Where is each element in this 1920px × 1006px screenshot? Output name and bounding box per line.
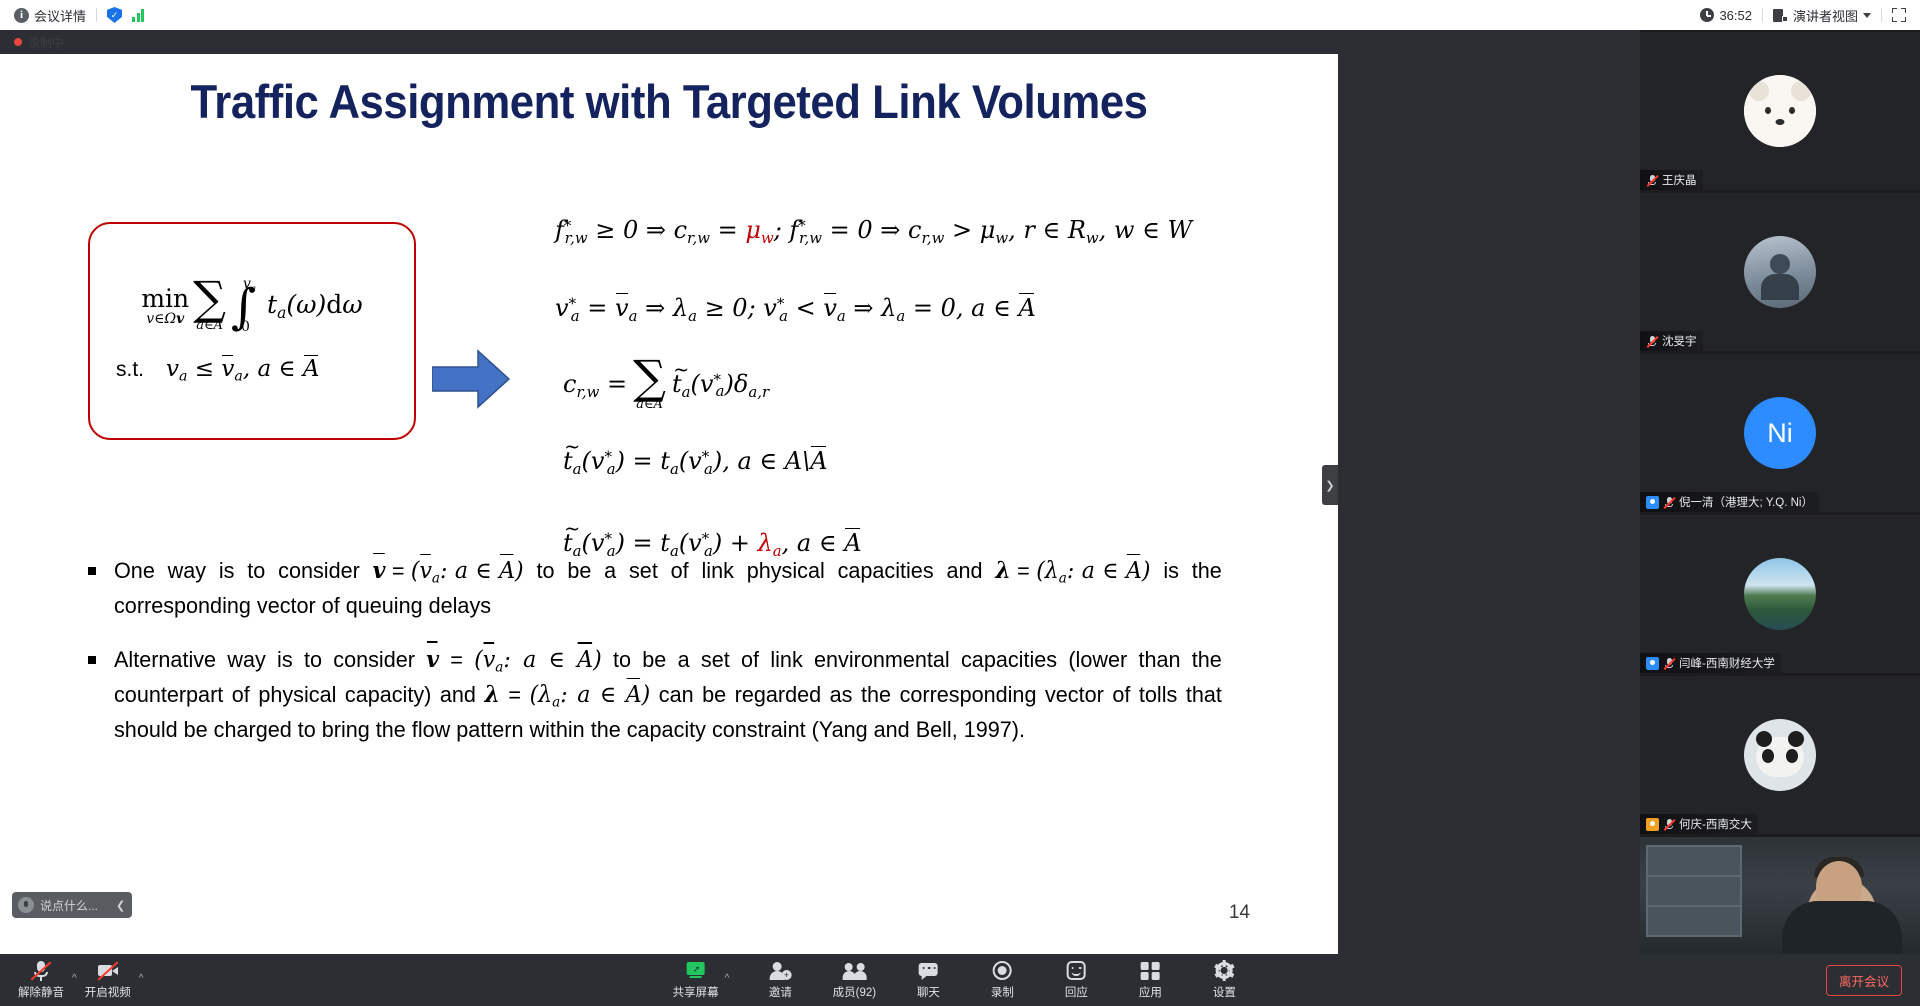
- bullet-physical-capacity: One way is to consider v = (va: a ∈ A) t…: [88, 554, 1268, 623]
- chevron-right-icon: ❯: [1325, 479, 1334, 492]
- participant-nameplate: 闫峰-西南财经大学: [1640, 653, 1781, 673]
- camera-options-chevron-icon[interactable]: ^: [139, 973, 144, 1000]
- chat-label: 聊天: [917, 984, 940, 1000]
- slide-page-number: 14: [1229, 902, 1250, 924]
- min-operator: min v∈Ωv: [141, 286, 189, 326]
- chat-icon: [917, 961, 939, 981]
- objective-function: min v∈Ωv ∑ a∈A va ∫ 0 ta(ω)dω: [104, 277, 400, 334]
- participant-sidebar: 王庆晶 沈旻宇 Ni 倪一清（港理大; Y.Q. Ni）: [1640, 30, 1920, 984]
- unmute-label: 解除静音: [18, 984, 64, 1000]
- chevron-down-icon: [1863, 13, 1871, 18]
- share-options-chevron-icon[interactable]: ^: [725, 973, 730, 1000]
- participant-name: 王庆晶: [1662, 172, 1697, 188]
- participant-name: 倪一清（港理大; Y.Q. Ni）: [1679, 494, 1813, 510]
- top-bar-left: i 会议详情: [14, 6, 144, 25]
- participant-name: 闫峰-西南财经大学: [1679, 655, 1775, 671]
- avatar-initials: Ni: [1767, 418, 1793, 449]
- bullet-environmental-capacity: Alternative way is to consider v = (va: …: [88, 643, 1268, 747]
- share-screen-label: 共享屏幕: [673, 984, 719, 1000]
- shield-check-icon[interactable]: [107, 7, 122, 23]
- person-photo-avatar: [1744, 236, 1816, 308]
- chevron-left-icon[interactable]: ❮: [109, 899, 132, 912]
- implication-arrow-icon: [432, 349, 510, 409]
- top-bar-right: 36:52 演讲者视图: [1700, 6, 1906, 25]
- chat-button[interactable]: 聊天: [905, 961, 951, 1000]
- clock-icon: [1700, 8, 1714, 22]
- sidebar-collapse-handle[interactable]: ❯: [1322, 465, 1338, 505]
- toolbar-center-items: ➚ 共享屏幕 ^ + 邀请 成员(92) 聊天 录制 回应: [673, 961, 1248, 1000]
- reactions-button[interactable]: 回应: [1053, 961, 1099, 1000]
- record-label: 录制: [991, 984, 1014, 1000]
- view-mode-label: 演讲者视图: [1793, 6, 1858, 25]
- settings-label: 设置: [1213, 984, 1236, 1000]
- recording-dot-icon: [14, 38, 22, 46]
- mic-muted-icon: [1663, 818, 1675, 831]
- self-video-tile[interactable]: [1640, 837, 1920, 959]
- info-icon: i: [14, 8, 29, 23]
- bullet-list: One way is to consider v = (va: a ∈ A) t…: [88, 554, 1268, 767]
- mic-muted-icon: [1646, 174, 1658, 187]
- lake-photo-avatar: [1744, 558, 1816, 630]
- start-video-label: 开启视频: [85, 984, 131, 1000]
- share-screen-icon: ➚: [685, 961, 707, 981]
- meeting-toolbar: 解除静音 ^ 开启视频 ^ ➚ 共享屏幕 ^ + 邀请 成员(92): [0, 954, 1920, 1006]
- view-mode-dropdown[interactable]: 演讲者视图: [1773, 6, 1871, 25]
- invite-icon: +: [769, 961, 791, 981]
- camera-off-icon: [97, 961, 119, 981]
- capacity-constraint: s.t. va ≤ va, a ∈ A: [104, 356, 400, 385]
- gear-icon: [1213, 961, 1235, 981]
- zoom-meeting-window: i 会议详情 36:52 演讲者视图 录制中 T: [0, 0, 1920, 1006]
- integrand: ta(ω)dω: [259, 290, 363, 322]
- bullet-text: Alternative way is to consider v = (va: …: [114, 643, 1222, 747]
- recording-label: 录制中: [28, 34, 64, 51]
- initials-avatar: Ni: [1744, 397, 1816, 469]
- participant-tile-1[interactable]: 王庆晶: [1640, 32, 1920, 190]
- meeting-details-button[interactable]: i 会议详情: [14, 6, 86, 25]
- participant-nameplate: 王庆晶: [1640, 170, 1703, 190]
- mic-muted-icon: [30, 961, 52, 981]
- meeting-details-label: 会议详情: [34, 6, 86, 25]
- invite-label: 邀请: [769, 984, 792, 1000]
- participant-tile-3[interactable]: Ni 倪一清（港理大; Y.Q. Ni）: [1640, 354, 1920, 512]
- self-camera-feed: [1640, 837, 1920, 959]
- optimization-problem-box: min v∈Ωv ∑ a∈A va ∫ 0 ta(ω)dω s.t. va ≤ …: [88, 222, 416, 440]
- participant-tile-5[interactable]: 何庆-西南交大: [1640, 676, 1920, 834]
- integral-operator: va ∫ 0: [231, 277, 256, 334]
- participant-nameplate: 何庆-西南交大: [1640, 814, 1758, 834]
- apps-label: 应用: [1139, 984, 1162, 1000]
- mic-options-chevron-icon[interactable]: ^: [72, 973, 77, 1000]
- reactions-label: 回应: [1065, 984, 1088, 1000]
- timer-value: 36:52: [1719, 8, 1752, 23]
- start-video-button[interactable]: 开启视频: [81, 961, 135, 1000]
- apps-icon: [1139, 961, 1161, 981]
- record-icon: [991, 961, 1013, 981]
- share-screen-button[interactable]: ➚ 共享屏幕: [673, 961, 719, 1000]
- unmute-button[interactable]: 解除静音: [14, 961, 68, 1000]
- mic-muted-icon: [1663, 657, 1675, 670]
- meeting-timer: 36:52: [1700, 8, 1752, 23]
- participant-nameplate: 倪一清（港理大; Y.Q. Ni）: [1640, 492, 1819, 512]
- record-button[interactable]: 录制: [979, 961, 1025, 1000]
- mic-muted-icon: [1663, 496, 1675, 509]
- shared-screen-slide[interactable]: Traffic Assignment with Targeted Link Vo…: [0, 54, 1338, 954]
- participant-tile-2[interactable]: 沈旻宇: [1640, 193, 1920, 351]
- fullscreen-icon[interactable]: [1892, 8, 1906, 22]
- divider: [1762, 8, 1763, 22]
- participant-name: 何庆-西南交大: [1679, 816, 1752, 832]
- members-icon: [843, 961, 865, 981]
- summation-operator: ∑ a∈A: [193, 280, 226, 332]
- host-badge-icon: [1646, 818, 1659, 831]
- participant-tile-4[interactable]: 闫峰-西南财经大学: [1640, 515, 1920, 673]
- invite-button[interactable]: + 邀请: [757, 961, 803, 1000]
- dog-avatar: [1744, 75, 1816, 147]
- top-bar: i 会议详情 36:52 演讲者视图: [0, 0, 1920, 30]
- apps-button[interactable]: 应用: [1127, 961, 1173, 1000]
- equation-kkt-flow: f*r,w ≥ 0 ⇒ cr,w = μw; f*r,w = 0 ⇒ cr,w …: [555, 216, 1192, 247]
- speaker-view-icon: [1773, 9, 1788, 22]
- quick-chat-placeholder[interactable]: 说点什么...: [40, 897, 108, 914]
- cohost-badge-icon: [1646, 496, 1659, 509]
- bullet-text: One way is to consider v = (va: a ∈ A) t…: [114, 554, 1222, 623]
- settings-button[interactable]: 设置: [1201, 961, 1247, 1000]
- equation-path-cost: cr,w = ∑a∈A ta(v*a)δa,r: [563, 359, 769, 411]
- participant-nameplate: 沈旻宇: [1640, 331, 1703, 351]
- recording-indicator-bar: 录制中: [0, 30, 1338, 54]
- mic-muted-icon: [1646, 335, 1658, 348]
- members-label: 成员(92): [833, 984, 876, 1000]
- cohost-badge-icon: [1646, 657, 1659, 670]
- equation-kkt-capacity: v*a = va ⇒ λa ≥ 0; v*a < va ⇒ λa = 0, a …: [555, 294, 1036, 325]
- equation-tilde-unconstrained: ta(v*a) = ta(v*a), a ∈ A\A: [563, 447, 828, 478]
- quick-chat-bar[interactable]: 说点什么... ❮: [12, 892, 132, 918]
- reactions-icon: [1065, 961, 1087, 981]
- mic-icon[interactable]: [18, 897, 34, 913]
- leave-meeting-button[interactable]: 离开会议: [1826, 965, 1902, 996]
- bullet-marker-icon: [88, 567, 96, 575]
- members-button[interactable]: 成员(92): [831, 961, 877, 1000]
- panda-avatar: [1744, 719, 1816, 791]
- bullet-marker-icon: [88, 656, 96, 664]
- divider: [96, 8, 97, 22]
- toolbar-right: 离开会议: [1826, 965, 1920, 996]
- slide-title: Traffic Assignment with Targeted Link Vo…: [47, 74, 1291, 129]
- participant-name: 沈旻宇: [1662, 333, 1697, 349]
- toolbar-left-controls: 解除静音 ^ 开启视频 ^: [0, 961, 143, 1000]
- divider: [1881, 8, 1882, 22]
- signal-bars-icon[interactable]: [132, 9, 144, 22]
